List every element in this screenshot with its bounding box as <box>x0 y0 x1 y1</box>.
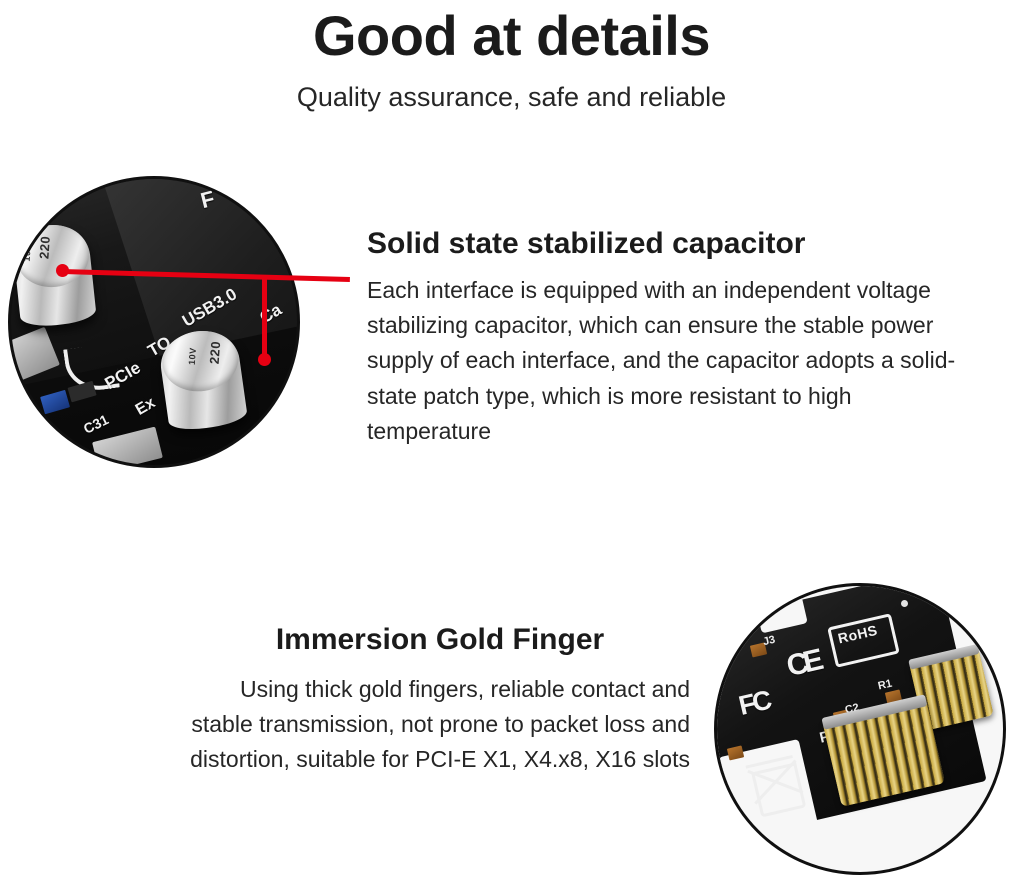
rohs-label: RoHS <box>836 622 879 647</box>
capacitor-text-block: Solid state stabilized capacitor Each in… <box>367 226 967 449</box>
goldfinger-heading: Immersion Gold Finger <box>190 622 690 658</box>
callout-line-vertical <box>262 276 267 360</box>
goldfinger-board-surface: RoHS CE FC J3 R1 C2 PCI-E X1 <box>714 583 1006 875</box>
silkscreen-designator-a: J3 <box>762 634 777 648</box>
callout-dot-lower-capacitor <box>258 353 271 366</box>
capacitor-heading: Solid state stabilized capacitor <box>367 226 967 262</box>
goldfinger-body-text: Using thick gold fingers, reliable conta… <box>190 658 690 777</box>
section-immersion-gold-finger: Immersion Gold Finger Using thick gold f… <box>0 520 1023 885</box>
ce-mark-icon: CE <box>783 644 822 684</box>
section-solid-state-capacitor: F PCIe TO USB3.0 Ex Ca C31 10V 220 10V 2… <box>0 0 1023 520</box>
callout-dot-upper-capacitor <box>56 264 69 277</box>
pcb-via-dot <box>901 600 908 607</box>
callout-line-horizontal <box>62 269 350 282</box>
capacitor-body-text: Each interface is equipped with an indep… <box>367 262 967 449</box>
goldfinger-photo-circle: RoHS CE FC J3 R1 C2 PCI-E X1 <box>714 583 1006 875</box>
goldfinger-text-block: Immersion Gold Finger Using thick gold f… <box>190 622 690 777</box>
